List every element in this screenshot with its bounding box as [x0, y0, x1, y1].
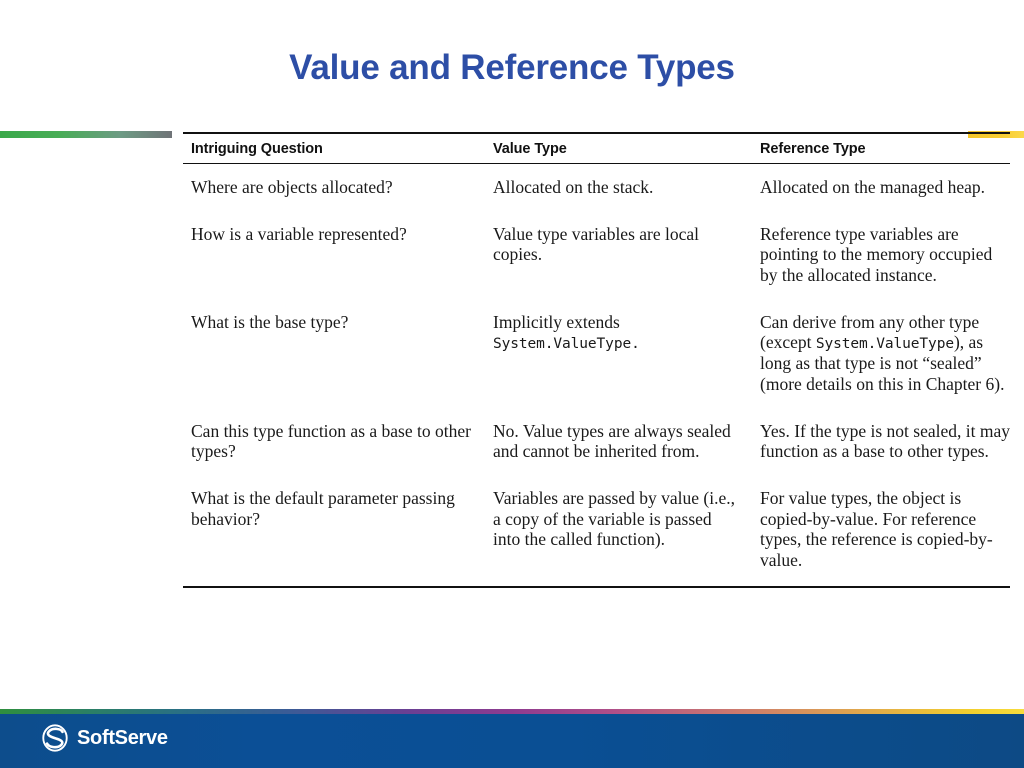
table-body: Where are objects allocated? Allocated o… [183, 164, 1010, 588]
comparison-table-container: Intriguing Question Value Type Reference… [183, 132, 958, 588]
cell-question: What is the default parameter passing be… [183, 475, 493, 588]
brand-lockup: SoftServe [40, 723, 168, 753]
left-accent-rule [0, 131, 172, 138]
value-type-text: Implicitly extends [493, 312, 620, 332]
cell-question: Where are objects allocated? [183, 164, 493, 211]
cell-value-type: Variables are passed by value (i.e., a c… [493, 475, 760, 588]
cell-question: What is the base type? [183, 299, 493, 408]
cell-value-type: Value type variables are local copies. [493, 211, 760, 299]
table-row: Where are objects allocated? Allocated o… [183, 164, 1010, 211]
table-row: How is a variable represented? Value typ… [183, 211, 1010, 299]
column-header-question: Intriguing Question [183, 133, 493, 164]
cell-reference-type: Yes. If the type is not sealed, it may f… [760, 408, 1010, 475]
cell-question: How is a variable represented? [183, 211, 493, 299]
value-type-code: System.ValueType. [493, 336, 640, 352]
cell-value-type: Implicitly extends System.ValueType. [493, 299, 760, 408]
cell-reference-type: Can derive from any other type (except S… [760, 299, 1010, 408]
cell-question: Can this type function as a base to othe… [183, 408, 493, 475]
column-header-reference-type: Reference Type [760, 133, 1010, 164]
table-row: Can this type function as a base to othe… [183, 408, 1010, 475]
reference-type-code: System.ValueType [816, 336, 954, 352]
table-header-row: Intriguing Question Value Type Reference… [183, 133, 1010, 164]
cell-value-type: Allocated on the stack. [493, 164, 760, 211]
table-header: Intriguing Question Value Type Reference… [183, 133, 1010, 164]
brand-name: SoftServe [77, 727, 168, 750]
cell-reference-type: Reference type variables are pointing to… [760, 211, 1010, 299]
table-row: What is the default parameter passing be… [183, 475, 1010, 588]
page-title: Value and Reference Types [0, 48, 1024, 88]
softserve-s-logo-icon [40, 723, 70, 753]
table-row: What is the base type? Implicitly extend… [183, 299, 1010, 408]
footer-bar: SoftServe [0, 714, 1024, 768]
cell-reference-type: For value types, the object is copied-by… [760, 475, 1010, 588]
cell-reference-type: Allocated on the managed heap. [760, 164, 1010, 211]
column-header-value-type: Value Type [493, 133, 760, 164]
cell-value-type: No. Value types are always sealed and ca… [493, 408, 760, 475]
value-vs-reference-table: Intriguing Question Value Type Reference… [183, 132, 1010, 588]
